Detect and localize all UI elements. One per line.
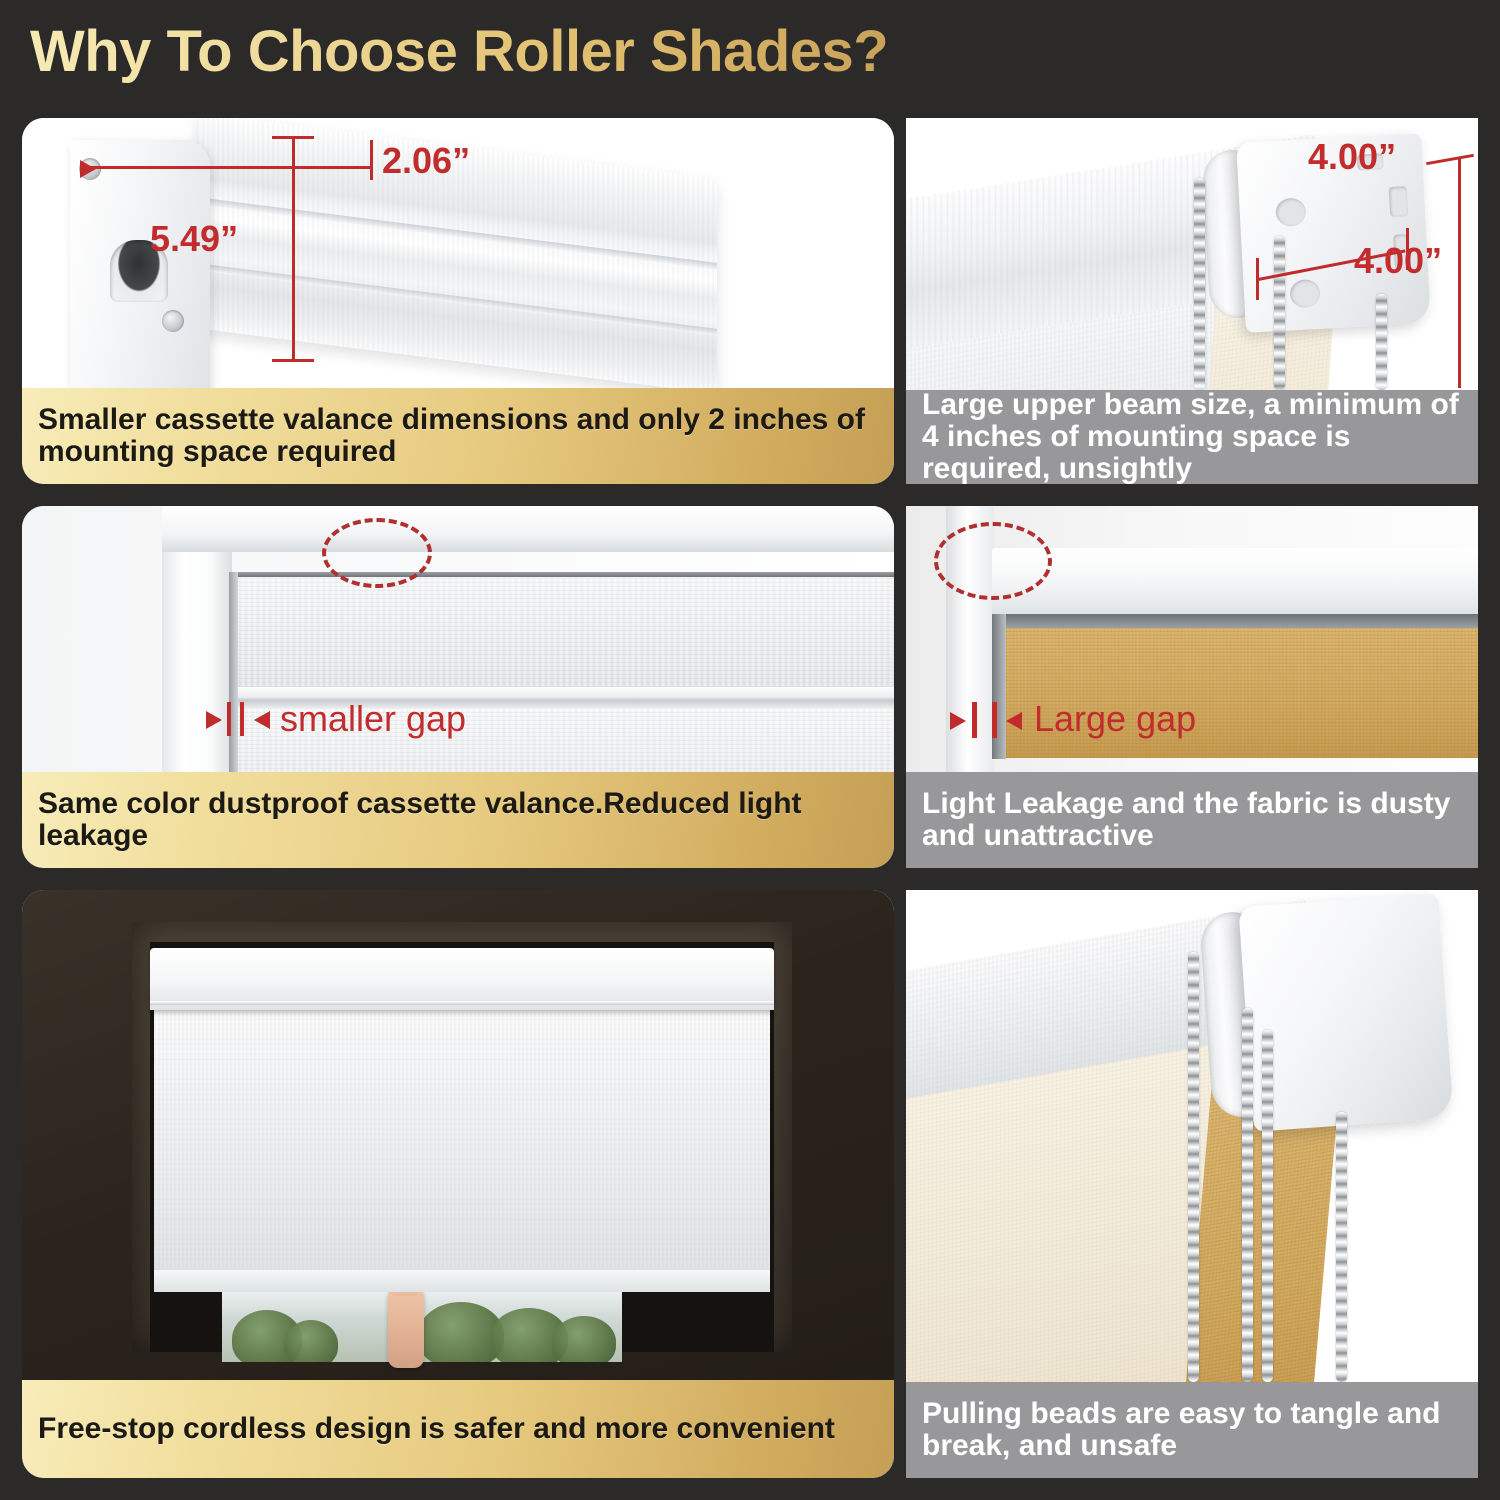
valance-fabric-band <box>237 577 894 687</box>
bead-chain <box>1188 952 1199 1382</box>
width-dim-label: 2.06” <box>382 140 470 182</box>
window-header <box>162 506 894 552</box>
width-dim-label: 4.00” <box>1308 136 1396 178</box>
bead-chain <box>1376 294 1387 390</box>
panel-caption: Smaller cassette valance dimensions and … <box>22 388 894 484</box>
comparison-grid: 2.06” 5.49” Smaller cassette valance dim… <box>0 0 1500 1500</box>
panel-caption-text: Free-stop cordless design is safer and m… <box>22 1413 851 1445</box>
height-dim-tick-top <box>272 136 314 139</box>
height-dim-tick-top <box>1426 154 1474 165</box>
roller-shade-fabric <box>154 1010 770 1270</box>
panel-caption-text: Smaller cassette valance dimensions and … <box>22 404 894 468</box>
gap-arrow-right <box>1006 712 1022 730</box>
gap-tick-b <box>992 702 997 738</box>
smaller-gap-photo: smaller gap <box>22 506 894 772</box>
height-dim-tick-bottom <box>272 359 314 362</box>
cassette-valance-photo: 2.06” 5.49” <box>22 118 894 388</box>
width-dim-tick-right <box>370 140 373 180</box>
bead-chain <box>1274 236 1285 390</box>
cassette-valance <box>150 948 774 1010</box>
panel-caption-text: Pulling beads are easy to tangle and bre… <box>906 1398 1478 1462</box>
height-dim-label: 4.00” <box>1354 240 1442 282</box>
width-dim-line <box>82 166 372 169</box>
panel-caption: Large upper beam size, a minimum of 4 in… <box>906 390 1478 484</box>
bead-chain <box>1336 1112 1347 1382</box>
large-beam-photo: 4.00” 4.00” <box>906 118 1478 390</box>
large-gap-photo: Large gap <box>906 506 1478 772</box>
gap-tick-a <box>227 702 231 736</box>
bead-chain <box>1262 1030 1273 1382</box>
panel-caption-text: Large upper beam size, a minimum of 4 in… <box>906 389 1478 484</box>
gap-arrow-left <box>206 711 222 729</box>
pulling-beads-photo <box>906 890 1478 1382</box>
gap-arrow-right <box>254 711 270 729</box>
gap-arrow-left <box>950 712 966 730</box>
gap-tick-a <box>972 702 977 738</box>
panel-cassette-dimensions: 2.06” 5.49” Smaller cassette valance dim… <box>22 118 894 484</box>
panel-smaller-gap: smaller gap Same color dustproof cassett… <box>22 506 894 868</box>
panel-caption: Pulling beads are easy to tangle and bre… <box>906 1382 1478 1478</box>
bead-chain <box>1242 1008 1253 1382</box>
panel-caption-text: Light Leakage and the fabric is dusty an… <box>906 788 1478 852</box>
panel-cordless-design: Free-stop cordless design is safer and m… <box>22 890 894 1478</box>
panel-caption-text: Same color dustproof cassette valance.Re… <box>22 788 894 852</box>
highlight-ellipse <box>322 518 432 588</box>
panel-large-gap: Large gap Light Leakage and the fabric i… <box>906 506 1478 868</box>
cordless-design-photo <box>22 890 894 1380</box>
panel-caption: Same color dustproof cassette valance.Re… <box>22 772 894 868</box>
width-dim-tick-left <box>1256 258 1259 300</box>
shade-bottom-bar <box>154 1270 770 1292</box>
height-dim-line <box>292 136 295 362</box>
gap-shadow <box>992 614 1478 628</box>
panel-caption: Light Leakage and the fabric is dusty an… <box>906 772 1478 868</box>
gap-tick-b <box>240 702 244 736</box>
gap-label: Large gap <box>1034 698 1196 740</box>
highlight-ellipse <box>934 522 1052 600</box>
bead-chain <box>1194 178 1205 390</box>
panel-pulling-beads: Pulling beads are easy to tangle and bre… <box>906 890 1478 1478</box>
height-dim-line <box>1458 158 1461 388</box>
valance-bar <box>992 548 1478 614</box>
screw-icon <box>162 310 184 332</box>
panel-caption: Free-stop cordless design is safer and m… <box>22 1380 894 1478</box>
height-dim-label: 5.49” <box>150 218 238 260</box>
width-dim-arrow-left <box>80 160 96 178</box>
panel-large-beam: 4.00” 4.00” Large upper beam size, a min… <box>906 118 1478 484</box>
gap-label: smaller gap <box>280 698 466 740</box>
shade-side-edge <box>229 572 238 772</box>
hand <box>388 1282 424 1368</box>
